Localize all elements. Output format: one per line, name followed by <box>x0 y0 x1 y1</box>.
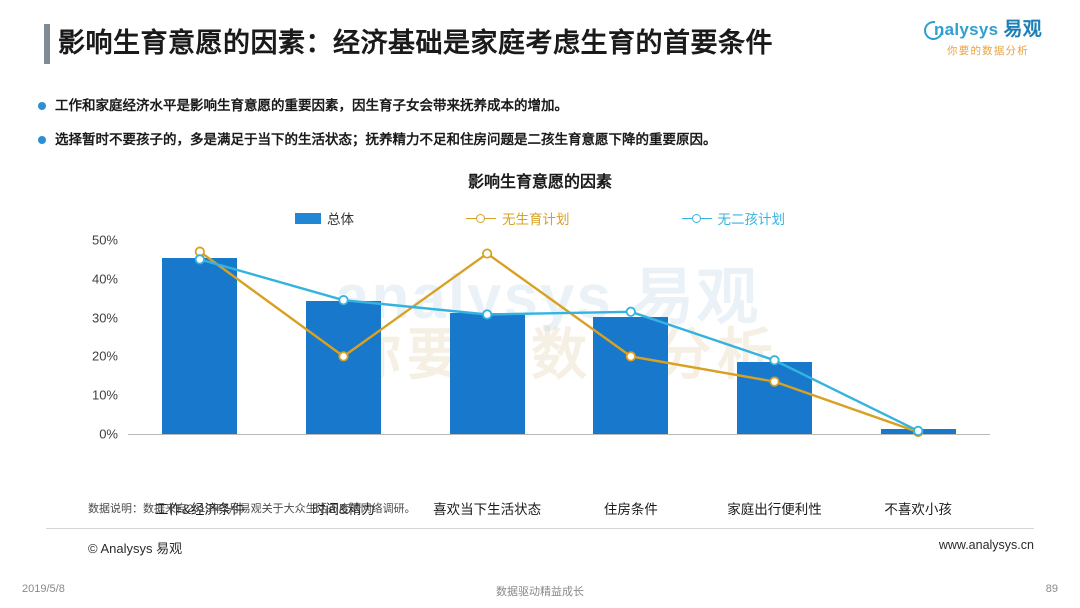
website-link[interactable]: www.analysys.cn <box>939 538 1034 552</box>
chart-line-marker <box>770 356 778 364</box>
slide-footer-bar: 2019/5/8 数据驱动精益成长 89 <box>0 575 1080 608</box>
logo-main-text: nalysys <box>934 20 998 39</box>
x-axis-tick-label: 喜欢当下生活状态 <box>433 498 541 518</box>
footer-date: 2019/5/8 <box>22 583 65 595</box>
legend-item-no-birth-plan: 无生育计划 <box>466 208 570 228</box>
chart-line-marker <box>483 310 491 318</box>
chart-line-marker <box>770 377 778 385</box>
legend-label: 无生育计划 <box>502 208 570 228</box>
bullet-text: 工作和家庭经济水平是影响生育意愿的重要因素，因生育子女会带来抚养成本的增加。 <box>55 96 568 115</box>
logo-main-cn-text: 易观 <box>1003 19 1042 40</box>
chart-line-marker <box>914 427 922 435</box>
list-item: 工作和家庭经济水平是影响生育意愿的重要因素，因生育子女会带来抚养成本的增加。 <box>38 96 1038 115</box>
chart-line <box>200 252 918 432</box>
logo-tagline: 你要的数据分析 <box>918 43 1058 59</box>
chart-plot-area: analysys 易观 你要的数据分析 50%40%30%20%10%0% 工作… <box>0 232 1080 482</box>
footer-divider <box>46 528 1034 529</box>
slide-root: 影响生育意愿的因素：经济基础是家庭考虑生育的首要条件 nalysys易观 你要的… <box>0 0 1080 608</box>
logo-wordmark: nalysys易观 <box>918 20 1058 40</box>
chart-line-marker <box>627 308 635 316</box>
x-axis-tick-label: 住房条件 <box>604 498 658 518</box>
bullet-list: 工作和家庭经济水平是影响生育意愿的重要因素，因生育子女会带来抚养成本的增加。 选… <box>38 96 1038 164</box>
x-axis-tick-label: 家庭出行便利性 <box>727 498 822 518</box>
chart-line-marker <box>339 352 347 360</box>
x-axis-tick-label: 不喜欢小孩 <box>884 498 952 518</box>
chart-title: 影响生育意愿的因素 <box>0 172 1080 194</box>
list-item: 选择暂时不要孩子的，多是满足于当下的生活状态；抚养精力不足和住房问题是二孩生育意… <box>38 130 1038 149</box>
bullet-dot-icon <box>38 102 46 110</box>
chart-legend: 总体 无生育计划 无二孩计划 <box>0 208 1080 228</box>
page-number: 89 <box>1046 583 1058 595</box>
page-title: 影响生育意愿的因素：经济基础是家庭考虑生育的首要条件 <box>58 22 773 64</box>
legend-line-marker-icon <box>682 213 712 224</box>
chart-container: 影响生育意愿的因素 总体 无生育计划 无二孩计划 analysys 易观 你要的… <box>0 168 1080 498</box>
chart-line-marker <box>627 352 635 360</box>
line-series <box>0 232 1080 482</box>
chart-line-marker <box>483 249 491 257</box>
legend-label: 总体 <box>327 208 354 228</box>
legend-swatch-bar-icon <box>295 213 321 224</box>
bullet-text: 选择暂时不要孩子的，多是满足于当下的生活状态；抚养精力不足和住房问题是二孩生育意… <box>55 130 717 149</box>
chart-line <box>200 259 918 430</box>
bullet-dot-icon <box>38 136 46 144</box>
legend-item-no-second-child-plan: 无二孩计划 <box>682 208 786 228</box>
footer-slogan: 数据驱动精益成长 <box>496 583 584 599</box>
chart-footnote: 数据说明：数据来自2019年2月易观关于大众生活态度的网络调研。 <box>88 500 416 516</box>
legend-item-total: 总体 <box>295 208 354 228</box>
legend-line-marker-icon <box>466 213 496 224</box>
chart-line-marker <box>196 255 204 263</box>
copyright-text: © Analysys 易观 <box>88 538 182 557</box>
chart-line-marker <box>339 296 347 304</box>
legend-label: 无二孩计划 <box>718 208 786 228</box>
slide-header: 影响生育意愿的因素：经济基础是家庭考虑生育的首要条件 nalysys易观 你要的… <box>0 0 1080 80</box>
title-accent-bar <box>44 24 50 64</box>
analysys-logo: nalysys易观 你要的数据分析 <box>918 20 1058 68</box>
